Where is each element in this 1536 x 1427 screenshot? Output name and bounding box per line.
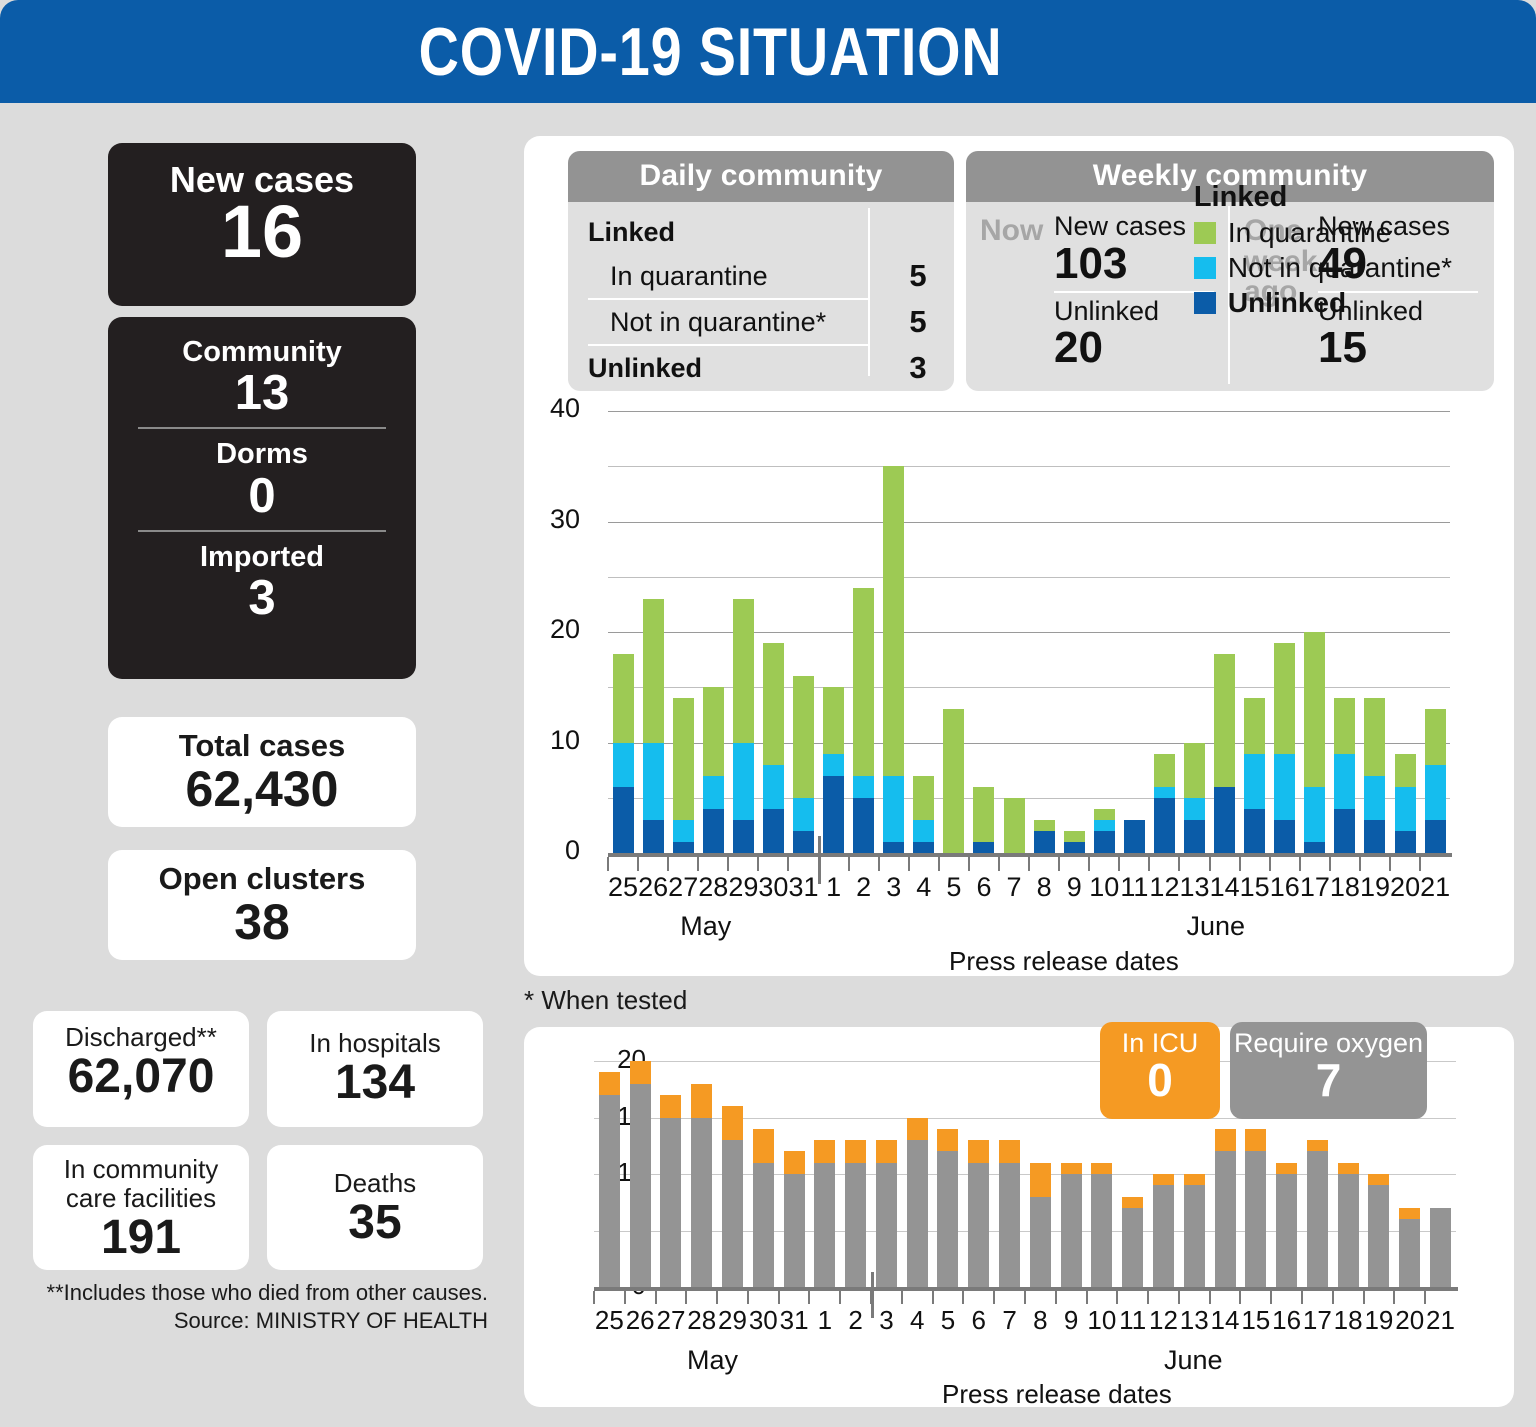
bar-segment <box>1064 842 1085 853</box>
bar-slot <box>1179 411 1209 853</box>
total-cases-card: Total cases 62,430 <box>108 717 416 827</box>
x-tick-label: 13 <box>1179 872 1209 903</box>
x-tick-label: 4 <box>902 1305 933 1336</box>
bar-segment <box>823 687 844 753</box>
stacked-bar <box>1124 820 1145 853</box>
x-tick-label: 21 <box>1420 872 1450 903</box>
bar-slot <box>779 1061 810 1287</box>
bar-slot <box>668 411 698 853</box>
legend-swatch-in-quarantine <box>1194 222 1216 244</box>
x-tick-label: 9 <box>1059 872 1089 903</box>
discharged-card: Discharged** 62,070 <box>33 1011 249 1127</box>
stacked-bar <box>784 1151 805 1287</box>
x-tick-label: 10 <box>1089 872 1119 903</box>
stacked-bar <box>814 1140 835 1287</box>
bar-segment <box>793 798 814 831</box>
bar-segment <box>1154 798 1175 853</box>
bar-segment <box>753 1129 774 1163</box>
bar-segment <box>1094 831 1115 853</box>
bar-segment <box>722 1140 743 1287</box>
stacked-bar <box>937 1129 958 1287</box>
bar-slot <box>1025 1061 1056 1287</box>
discharged-label: Discharged** <box>33 1023 249 1052</box>
x-tick-label: 25 <box>594 1305 625 1336</box>
x-tick <box>1333 1291 1364 1304</box>
bar-slot <box>1029 411 1059 853</box>
imported-label: Imported <box>136 541 388 574</box>
stacked-bar <box>907 1118 928 1287</box>
x-tick-label: 18 <box>1330 872 1360 903</box>
x-tick <box>717 1291 748 1304</box>
x-tick-label: 20 <box>1394 1305 1425 1336</box>
bar-segment <box>973 787 994 842</box>
x-tick-label: 7 <box>994 1305 1025 1336</box>
bar-segment <box>1274 754 1295 820</box>
x-tick <box>1179 857 1209 871</box>
x-tick-label: 26 <box>625 1305 656 1336</box>
bar-segment <box>1304 787 1325 842</box>
x-tick-label: 28 <box>698 872 728 903</box>
x-tick-label: 3 <box>871 1305 902 1336</box>
bar-slot <box>728 411 758 853</box>
x-tick-label: 1 <box>809 1305 840 1336</box>
stacked-bar <box>793 676 814 853</box>
bar-slot <box>871 1061 902 1287</box>
x-tick <box>1420 857 1450 871</box>
open-clusters-value: 38 <box>108 896 416 949</box>
bar-slot <box>1300 411 1330 853</box>
bar-segment <box>1124 820 1145 853</box>
x-tick-label: 12 <box>1148 1305 1179 1336</box>
bar-segment <box>1214 787 1235 853</box>
divider <box>138 530 386 532</box>
x-tick-label: 30 <box>758 872 788 903</box>
discharged-value: 62,070 <box>33 1052 249 1102</box>
bar-slot <box>909 411 939 853</box>
stacked-bar <box>1215 1129 1236 1287</box>
stacked-bar <box>753 1129 774 1287</box>
bar-segment <box>853 798 874 853</box>
x-tick <box>1210 857 1240 871</box>
x-tick <box>1089 857 1119 871</box>
in-icu-label: In ICU <box>1100 1029 1220 1057</box>
bar-slot <box>788 411 818 853</box>
bar-segment <box>643 599 664 743</box>
bar-segment <box>814 1163 835 1287</box>
in-hospitals-card: In hospitals 134 <box>267 1011 483 1127</box>
stacked-bar <box>1364 698 1385 853</box>
x-tick-label: 14 <box>1210 1305 1241 1336</box>
bar-segment <box>703 809 724 853</box>
deaths-label: Deaths <box>267 1169 483 1198</box>
stacked-bar <box>630 1061 651 1287</box>
bar-segment <box>673 842 694 853</box>
bar-segment <box>1274 643 1295 754</box>
community-value: 13 <box>136 369 388 418</box>
x-tick <box>1302 1291 1333 1304</box>
bar-segment <box>876 1163 897 1287</box>
stacked-bar <box>691 1084 712 1287</box>
bar-segment <box>643 743 664 820</box>
x-tick-label: 11 <box>1117 1305 1148 1336</box>
chart-x-axis-title: Press release dates <box>949 946 1179 977</box>
legend-label-in-quarantine: In quarantine <box>1228 217 1391 249</box>
bar-segment <box>853 588 874 776</box>
x-tick-label: 11 <box>1119 872 1149 903</box>
bar-slot <box>969 411 999 853</box>
bar-segment <box>1244 754 1265 809</box>
page-header: COVID-19 SITUATION <box>0 0 1536 103</box>
x-tick <box>969 857 999 871</box>
hosp-chart-x-tick-marks <box>594 1291 1456 1304</box>
stacked-bar <box>1064 831 1085 853</box>
stacked-bar <box>1334 698 1355 853</box>
x-tick-label: 1 <box>819 872 849 903</box>
x-tick <box>963 1291 994 1304</box>
stacked-bar <box>968 1140 989 1287</box>
bar-segment <box>1334 754 1355 809</box>
stacked-bar <box>1154 754 1175 853</box>
bar-segment <box>1244 698 1265 753</box>
stacked-bar <box>1122 1197 1143 1287</box>
x-tick <box>999 857 1029 871</box>
bar-slot <box>1056 1061 1087 1287</box>
stacked-bar <box>999 1140 1020 1287</box>
stacked-bar <box>1395 754 1416 853</box>
bar-slot <box>1270 411 1300 853</box>
x-tick <box>686 1291 717 1304</box>
bar-segment <box>1215 1129 1236 1152</box>
bar-slot <box>809 1061 840 1287</box>
stacked-bar <box>883 466 904 853</box>
imported-value: 3 <box>136 574 388 623</box>
bar-slot <box>939 411 969 853</box>
bar-segment <box>907 1118 928 1141</box>
new-cases-card: New cases 16 <box>108 143 416 306</box>
bar-segment <box>733 820 754 853</box>
bar-slot <box>933 1061 964 1287</box>
x-tick-label: 8 <box>1029 872 1059 903</box>
x-tick <box>638 857 668 871</box>
stacked-bar <box>613 654 634 853</box>
bar-slot <box>1210 411 1240 853</box>
x-tick-label: 12 <box>1149 872 1179 903</box>
bar-segment <box>1091 1174 1112 1287</box>
hosp-chart-x-axis-labels: 2526272829303112345678910111213141516171… <box>594 1305 1456 1336</box>
require-oxygen-card: Require oxygen 7 <box>1230 1022 1427 1119</box>
bar-segment <box>823 754 844 776</box>
bar-slot <box>758 411 788 853</box>
stacked-bar <box>1094 809 1115 853</box>
bar-segment <box>1154 754 1175 787</box>
x-tick <box>1179 1291 1210 1304</box>
bar-slot <box>717 1061 748 1287</box>
bar-segment <box>1061 1174 1082 1287</box>
bar-segment <box>1334 809 1355 853</box>
x-tick-label: 20 <box>1390 872 1420 903</box>
x-tick <box>1271 1291 1302 1304</box>
bar-segment <box>883 842 904 853</box>
bar-segment <box>763 765 784 809</box>
month-label-may: May <box>687 1345 738 1376</box>
legend-swatch-unlinked <box>1194 292 1216 314</box>
x-tick-label: 31 <box>779 1305 810 1336</box>
bar-segment <box>613 654 634 742</box>
bar-segment <box>913 842 934 853</box>
x-tick <box>1270 857 1300 871</box>
x-tick-label: 18 <box>1333 1305 1364 1336</box>
legend-swatch-not-in-quarantine <box>1194 257 1216 279</box>
x-tick-label: 28 <box>686 1305 717 1336</box>
stacked-bar <box>733 599 754 853</box>
stacked-bar <box>660 1095 681 1287</box>
x-tick <box>1240 1291 1271 1304</box>
bar-slot <box>963 1061 994 1287</box>
x-tick <box>1300 857 1330 871</box>
bar-segment <box>1184 820 1205 853</box>
bar-segment <box>1245 1151 1266 1287</box>
in-hospitals-value: 134 <box>267 1058 483 1108</box>
y-tick-label: 40 <box>520 393 580 424</box>
bar-segment <box>1064 831 1085 842</box>
x-tick <box>668 857 698 871</box>
hosp-chart-x-axis-title: Press release dates <box>942 1379 1172 1410</box>
bar-segment <box>1399 1208 1420 1219</box>
page-title: COVID-19 SITUATION <box>419 13 1003 91</box>
x-tick <box>1330 857 1360 871</box>
x-tick-label: 8 <box>1025 1305 1056 1336</box>
x-tick <box>849 857 879 871</box>
bar-segment <box>1184 798 1205 820</box>
bar-segment <box>1364 820 1385 853</box>
bar-segment <box>968 1140 989 1163</box>
community-care-label-line1: In community <box>33 1155 249 1184</box>
month-separator <box>818 836 821 884</box>
bar-slot <box>849 411 879 853</box>
chart-legend: Linked In quarantine Not in quarantine* … <box>1194 181 1452 319</box>
bar-segment <box>1004 798 1025 853</box>
bar-segment <box>876 1140 897 1163</box>
x-tick-label: 2 <box>849 872 879 903</box>
x-tick-label: 26 <box>638 872 668 903</box>
bar-slot <box>748 1061 779 1287</box>
stacked-bar <box>1091 1163 1112 1287</box>
x-tick <box>1119 857 1149 871</box>
bar-segment <box>599 1072 620 1095</box>
x-tick-label: 7 <box>999 872 1029 903</box>
bar-segment <box>630 1084 651 1287</box>
bar-slot <box>1119 411 1149 853</box>
legend-item-in-quarantine: In quarantine <box>1194 217 1452 249</box>
x-tick <box>809 1291 840 1304</box>
bar-segment <box>1304 842 1325 853</box>
stacked-bar <box>643 599 664 853</box>
x-tick-label: 19 <box>1360 872 1390 903</box>
bar-segment <box>1307 1151 1328 1287</box>
stacked-bar <box>876 1140 897 1287</box>
legend-item-not-in-quarantine: Not in quarantine* <box>1194 252 1452 284</box>
x-tick <box>1240 857 1270 871</box>
x-tick <box>758 857 788 871</box>
community-care-card: In community care facilities 191 <box>33 1145 249 1270</box>
x-tick-label: 25 <box>608 872 638 903</box>
bar-segment <box>1153 1185 1174 1287</box>
x-tick <box>1210 1291 1241 1304</box>
stacked-bar <box>823 687 844 853</box>
bar-segment <box>793 831 814 853</box>
bar-segment <box>1034 831 1055 853</box>
bar-segment <box>613 787 634 853</box>
stacked-bar <box>1034 820 1055 853</box>
x-tick-label: 10 <box>1087 1305 1118 1336</box>
bar-segment <box>1215 1151 1236 1287</box>
require-oxygen-value: 7 <box>1230 1057 1427 1103</box>
bar-slot <box>608 411 638 853</box>
bar-segment <box>643 820 664 853</box>
bar-segment <box>1034 820 1055 831</box>
x-tick-label: 29 <box>717 1305 748 1336</box>
y-tick-label: 0 <box>520 835 580 866</box>
bar-segment <box>1425 765 1446 820</box>
bar-segment <box>691 1118 712 1288</box>
x-tick-label: 21 <box>1425 1305 1456 1336</box>
bar-slot <box>1089 411 1119 853</box>
y-tick-label: 10 <box>520 725 580 756</box>
x-tick-label: 2 <box>840 1305 871 1336</box>
footnote: **Includes those who died from other cau… <box>18 1279 488 1335</box>
bar-slot <box>1330 411 1360 853</box>
bar-segment <box>722 1106 743 1140</box>
bar-segment <box>1154 787 1175 798</box>
x-tick-label: 5 <box>933 1305 964 1336</box>
stacked-bar <box>913 776 934 853</box>
bar-segment <box>1061 1163 1082 1174</box>
x-tick <box>1059 857 1089 871</box>
bar-segment <box>943 709 964 853</box>
x-tick-label: 27 <box>668 872 698 903</box>
bar-segment <box>1368 1185 1389 1287</box>
x-tick <box>779 1291 810 1304</box>
x-tick <box>994 1291 1025 1304</box>
bar-segment <box>1184 743 1205 798</box>
bar-segment <box>1307 1140 1328 1151</box>
x-tick-label: 14 <box>1210 872 1240 903</box>
x-tick <box>1148 1291 1179 1304</box>
stacked-bar <box>1004 798 1025 853</box>
bar-segment <box>793 676 814 798</box>
in-hospitals-label: In hospitals <box>267 1029 483 1058</box>
month-label-june: June <box>1164 1345 1223 1376</box>
x-tick <box>909 857 939 871</box>
bar-segment <box>1364 776 1385 820</box>
bar-segment <box>1245 1129 1266 1152</box>
chart-bars <box>608 411 1450 853</box>
bar-slot <box>625 1061 656 1287</box>
bar-segment <box>1425 709 1446 764</box>
x-tick <box>1149 857 1179 871</box>
bar-segment <box>883 466 904 775</box>
stacked-bar <box>1276 1163 1297 1287</box>
bar-segment <box>1425 820 1446 853</box>
bar-segment <box>660 1118 681 1288</box>
x-tick-label: 29 <box>728 872 758 903</box>
stacked-bar <box>1153 1174 1174 1287</box>
bar-segment <box>660 1095 681 1118</box>
bar-segment <box>703 776 724 809</box>
x-tick-label: 17 <box>1302 1305 1333 1336</box>
divider <box>138 427 386 429</box>
x-tick <box>1056 1291 1087 1304</box>
legend-label-not-in-quarantine: Not in quarantine* <box>1228 252 1452 284</box>
bar-segment <box>1214 654 1235 787</box>
month-label-may: May <box>680 911 731 942</box>
x-tick-label: 9 <box>1056 1305 1087 1336</box>
x-tick <box>819 857 849 871</box>
case-breakdown-card: Community 13 Dorms 0 Imported 3 <box>108 317 416 679</box>
bar-segment <box>845 1140 866 1163</box>
bar-segment <box>1184 1185 1205 1287</box>
footnote-line1: **Includes those who died from other cau… <box>18 1279 488 1307</box>
bar-slot <box>1420 411 1450 853</box>
require-oxygen-label: Require oxygen <box>1230 1029 1427 1057</box>
chart-x-axis-labels: 2526272829303112345678910111213141516171… <box>608 872 1450 903</box>
stacked-bar <box>1245 1129 1266 1287</box>
bar-segment <box>1276 1174 1297 1287</box>
bar-segment <box>968 1163 989 1287</box>
bar-segment <box>613 743 634 787</box>
bar-segment <box>1030 1163 1051 1197</box>
bar-segment <box>784 1174 805 1287</box>
x-tick <box>625 1291 656 1304</box>
in-icu-card: In ICU 0 <box>1100 1022 1220 1119</box>
bar-segment <box>823 776 844 853</box>
new-cases-value: 16 <box>108 195 416 269</box>
bar-segment <box>907 1140 928 1287</box>
community-label: Community <box>136 336 388 369</box>
bar-segment <box>1368 1174 1389 1185</box>
x-tick-label: 15 <box>1240 1305 1271 1336</box>
in-icu-value: 0 <box>1100 1057 1220 1103</box>
open-clusters-label: Open clusters <box>108 862 416 896</box>
bar-segment <box>763 809 784 853</box>
bar-segment <box>1395 831 1416 853</box>
bar-segment <box>1304 632 1325 787</box>
x-tick <box>728 857 758 871</box>
stacked-bar <box>1307 1140 1328 1287</box>
community-cases-chart: 010203040 252627282930311234567891011121… <box>524 136 1514 976</box>
breakdown-row-imported: Imported 3 <box>108 538 416 626</box>
stacked-bar <box>1184 743 1205 853</box>
stacked-bar <box>763 643 784 853</box>
stacked-bar <box>1061 1163 1082 1287</box>
bar-slot <box>1240 411 1270 853</box>
x-tick-label: 3 <box>879 872 909 903</box>
open-clusters-card: Open clusters 38 <box>108 850 416 960</box>
stacked-bar <box>1304 632 1325 853</box>
x-tick-label: 19 <box>1364 1305 1395 1336</box>
stacked-bar <box>599 1072 620 1287</box>
total-cases-label: Total cases <box>108 729 416 763</box>
dorms-value: 0 <box>136 472 388 521</box>
bar-segment <box>1338 1174 1359 1287</box>
x-tick-label: 31 <box>788 872 818 903</box>
stacked-bar <box>1368 1174 1389 1287</box>
x-tick <box>1425 1291 1456 1304</box>
stacked-bar <box>1338 1163 1359 1287</box>
when-tested-note: * When tested <box>524 985 687 1016</box>
bar-slot <box>594 1061 625 1287</box>
bar-segment <box>1153 1174 1174 1185</box>
